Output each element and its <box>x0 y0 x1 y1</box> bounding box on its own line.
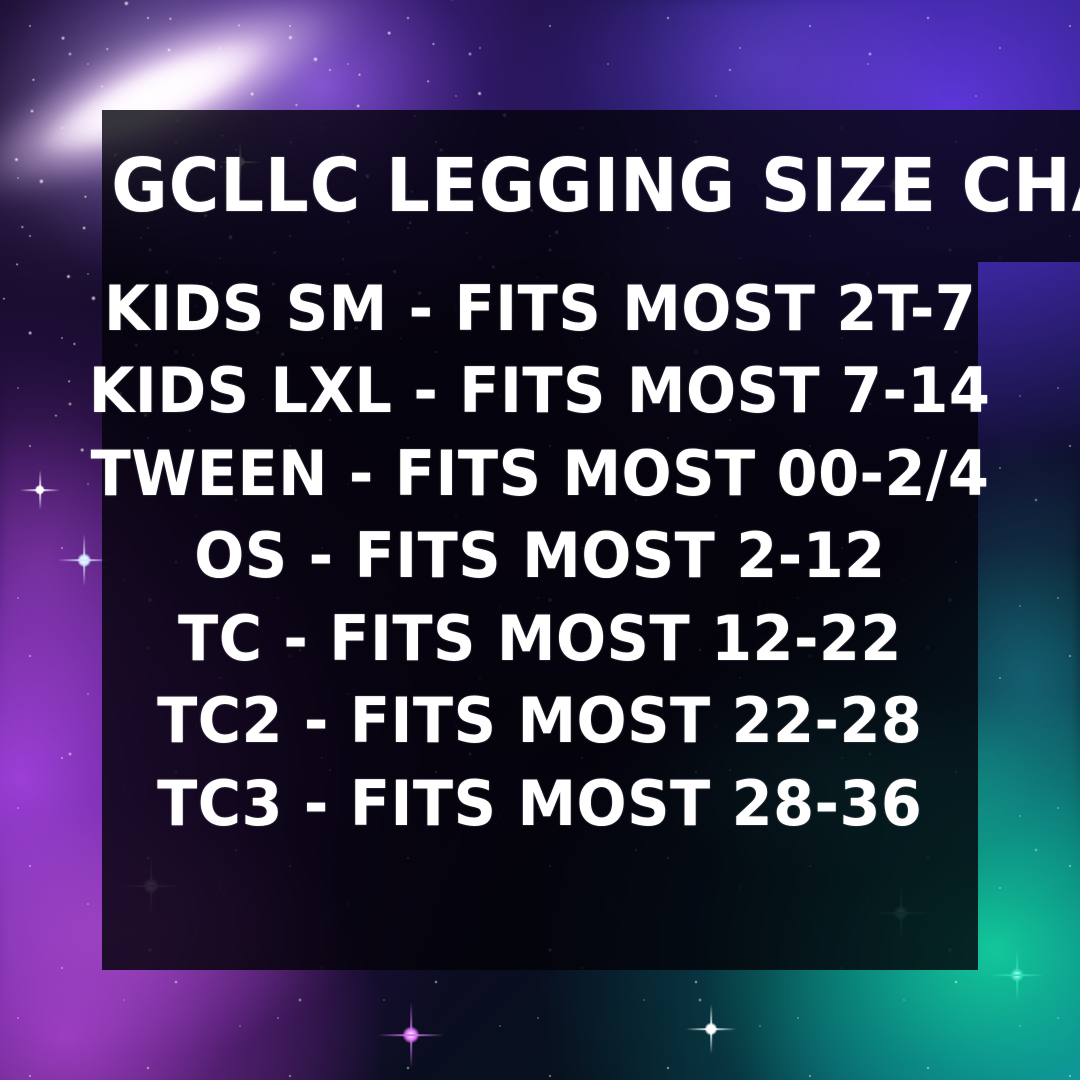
list-item: TC2 - FITS MOST 22-28 <box>157 680 922 762</box>
page-title: GCLLC LEGGING SIZE CHART <box>102 110 1012 262</box>
list-item: KIDS LXL - FITS MOST 7-14 <box>89 350 991 432</box>
list-item: TC - FITS MOST 12-22 <box>178 598 902 680</box>
list-item: OS - FITS MOST 2-12 <box>194 515 885 597</box>
size-chart-image: GCLLC LEGGING SIZE CHART KIDS SM - FITS … <box>0 0 1080 1080</box>
size-rows-list: KIDS SM - FITS MOST 2T-7 KIDS LXL - FITS… <box>102 268 978 845</box>
list-item: TWEEN - FITS MOST 00-2/4 <box>91 433 990 515</box>
list-item: TC3 - FITS MOST 28-36 <box>157 763 922 845</box>
list-item: KIDS SM - FITS MOST 2T-7 <box>104 268 976 350</box>
chart-content: GCLLC LEGGING SIZE CHART KIDS SM - FITS … <box>0 0 1080 1080</box>
